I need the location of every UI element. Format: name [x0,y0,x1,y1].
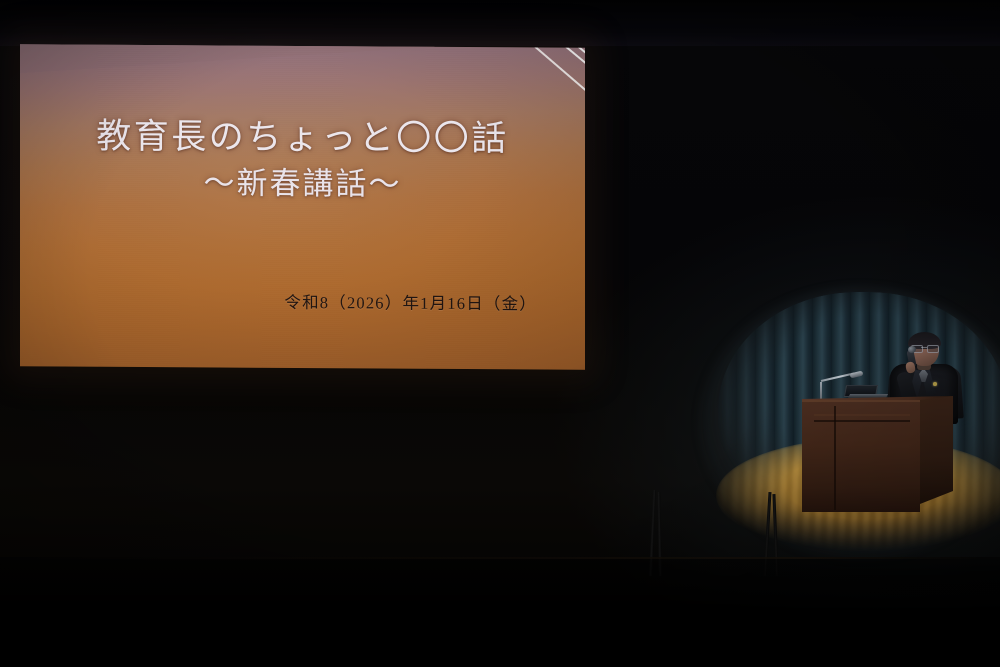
lectern-trim-groove [814,420,910,422]
presentation-slide: 教育長のちょっと〇〇話 〜新春講話〜 令和8（2026）年1月16日（金） [20,44,585,369]
lectern-side-panel [920,396,953,504]
slide-subtitle: 〜新春講話〜 [20,156,585,204]
projection-screen: 教育長のちょっと〇〇話 〜新春講話〜 令和8（2026）年1月16日（金） [20,44,585,369]
slide-date: 令和8（2026）年1月16日（金） [284,289,537,315]
lectern [802,396,952,514]
ceiling-bar [0,0,1000,46]
lapel-badge-icon [933,382,937,386]
lectern-front-panel [802,400,920,512]
stage-apron-shadow [0,557,1000,667]
lectern-panel-seam [834,406,836,510]
slide-title: 教育長のちょっと〇〇話 [20,107,585,161]
lectern-trim-highlight [814,414,910,416]
glasses-lens-right [927,345,939,353]
slide-text-block: 教育長のちょっと〇〇話 〜新春講話〜 令和8（2026）年1月16日（金） [20,44,585,369]
auditorium-stage-photo: 教育長のちょっと〇〇話 〜新春講話〜 令和8（2026）年1月16日（金） [0,0,1000,667]
